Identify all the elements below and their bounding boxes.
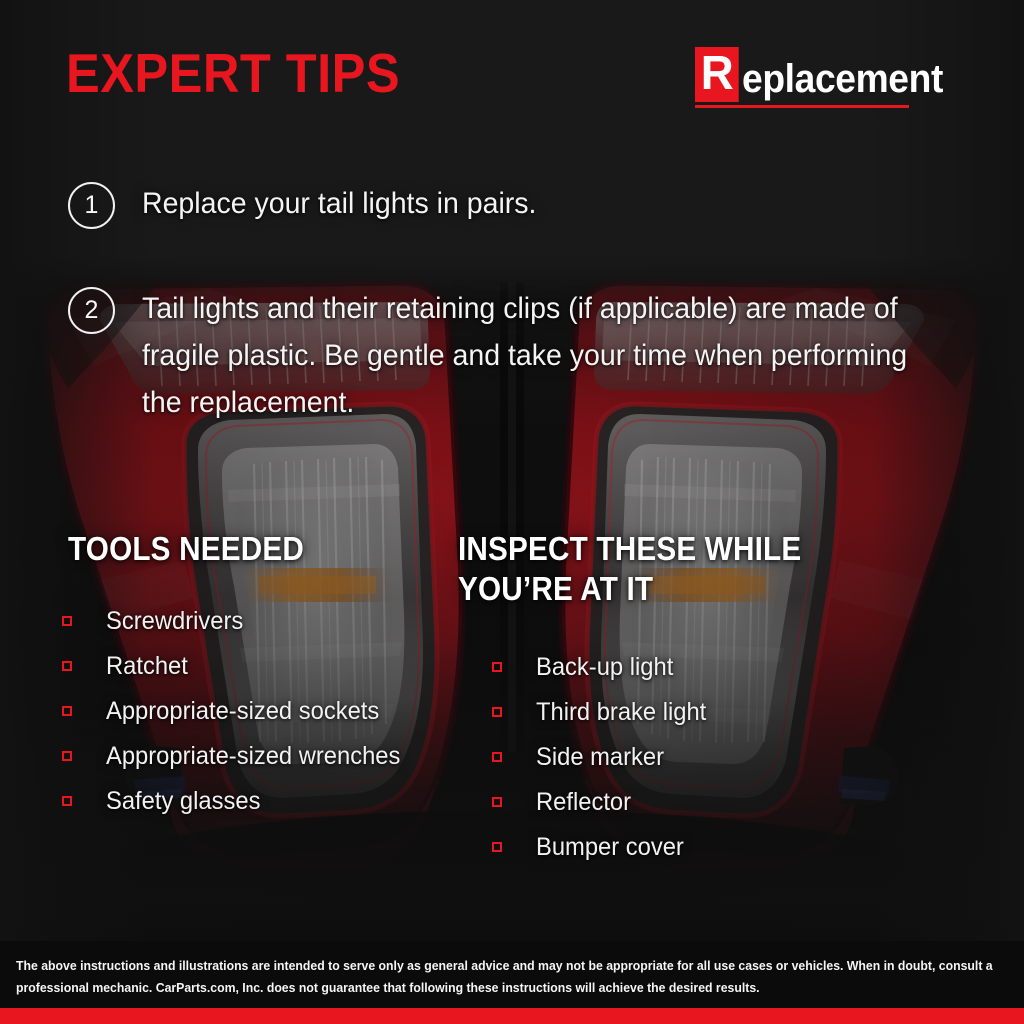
- tip-item-2: 2 Tail lights and their retaining clips …: [68, 285, 997, 426]
- list-item-label: Bumper cover: [536, 832, 684, 862]
- square-bullet-icon: [62, 751, 72, 761]
- logo-underline: [695, 105, 909, 108]
- list-item: Side marker: [492, 734, 715, 779]
- tip-text: Tail lights and their retaining clips (i…: [142, 285, 954, 426]
- square-bullet-icon: [492, 707, 502, 717]
- list-item-label: Side marker: [536, 742, 664, 772]
- list-item: Appropriate-sized sockets: [62, 688, 416, 733]
- tools-needed-heading: TOOLS NEEDED: [68, 529, 455, 569]
- square-bullet-icon: [492, 752, 502, 762]
- list-item-label: Reflector: [536, 787, 631, 817]
- list-item-label: Appropriate-sized sockets: [106, 696, 379, 726]
- list-item: Back-up light: [492, 644, 715, 689]
- list-item: Third brake light: [492, 689, 715, 734]
- square-bullet-icon: [62, 796, 72, 806]
- tip-text: Replace your tail lights in pairs.: [142, 180, 921, 227]
- list-item-label: Appropriate-sized wrenches: [106, 741, 400, 771]
- square-bullet-icon: [62, 616, 72, 626]
- list-item: Appropriate-sized wrenches: [62, 733, 416, 778]
- square-bullet-icon: [62, 661, 72, 671]
- inspect-these-heading: INSPECT THESE WHILE YOU’RE AT IT: [458, 529, 845, 609]
- list-item-label: Third brake light: [536, 697, 706, 727]
- list-item-label: Safety glasses: [106, 786, 260, 816]
- list-item-label: Screwdrivers: [106, 606, 243, 636]
- square-bullet-icon: [492, 797, 502, 807]
- list-item: Safety glasses: [62, 778, 416, 823]
- expert-tips-infographic: EXPERT TIPS R eplacement 1 Replace your …: [0, 0, 1024, 1024]
- list-item: Screwdrivers: [62, 598, 416, 643]
- footer-accent-bar: [0, 1008, 1024, 1024]
- list-item: Bumper cover: [492, 824, 715, 869]
- square-bullet-icon: [492, 842, 502, 852]
- footer-disclaimer-band: The above instructions and illustrations…: [0, 941, 1024, 1008]
- list-item-label: Back-up light: [536, 652, 673, 682]
- square-bullet-icon: [492, 662, 502, 672]
- logo-initial-badge: R: [695, 47, 738, 102]
- tip-number-badge: 1: [68, 182, 115, 229]
- tools-needed-list: Screwdrivers Ratchet Appropriate-sized s…: [62, 598, 416, 823]
- logo-wordmark: R eplacement: [695, 47, 958, 102]
- list-item: Reflector: [492, 779, 715, 824]
- tip-item-1: 1 Replace your tail lights in pairs.: [68, 180, 962, 229]
- list-item: Ratchet: [62, 643, 416, 688]
- tip-number-badge: 2: [68, 287, 115, 334]
- footer-disclaimer-text: The above instructions and illustrations…: [16, 955, 1024, 999]
- replacement-logo: R eplacement: [695, 47, 958, 108]
- square-bullet-icon: [62, 706, 72, 716]
- list-item-label: Ratchet: [106, 651, 188, 681]
- logo-wordmark-text: eplacement: [742, 47, 943, 99]
- page-title: EXPERT TIPS: [66, 44, 400, 102]
- inspect-these-list: Back-up light Third brake light Side mar…: [492, 644, 715, 869]
